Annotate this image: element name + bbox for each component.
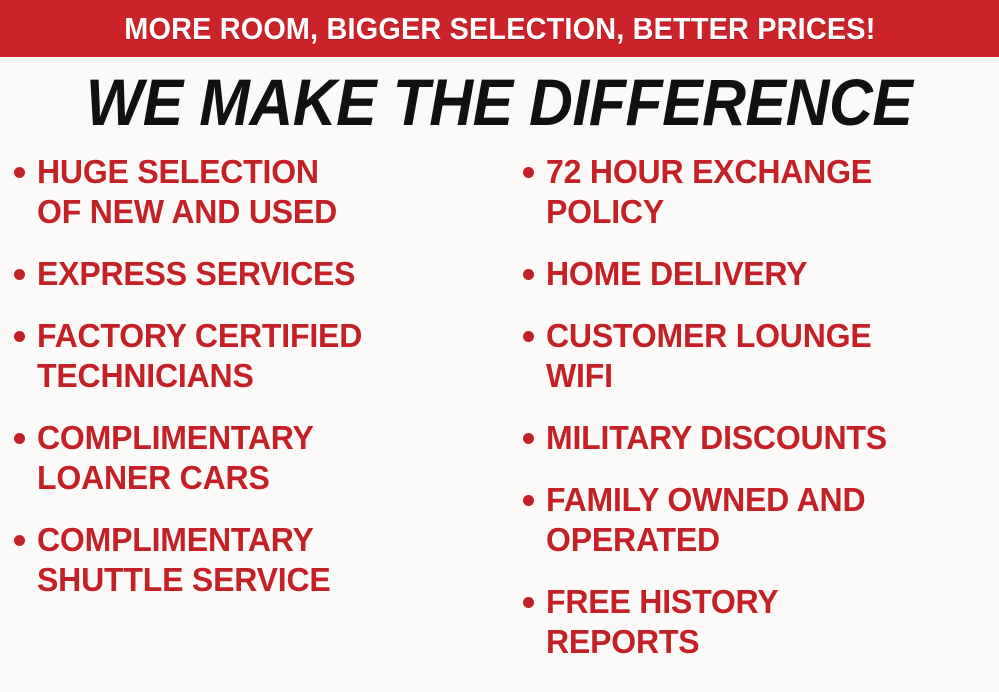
bullet-dot-icon [14, 331, 25, 342]
bullet-dot-icon [523, 597, 534, 608]
list-item: FREE HISTORY REPORTS [523, 582, 999, 662]
bullet-dot-icon [523, 433, 534, 444]
list-item: HOME DELIVERY [523, 254, 999, 294]
list-item-label: CUSTOMER LOUNGE WIFI [546, 316, 872, 396]
list-item-label: 72 HOUR EXCHANGE POLICY [546, 152, 872, 232]
list-item: CUSTOMER LOUNGE WIFI [523, 316, 999, 396]
bullet-dot-icon [14, 167, 25, 178]
list-item: MILITARY DISCOUNTS [523, 418, 999, 458]
benefits-column-left: HUGE SELECTION OF NEW AND USED EXPRESS S… [0, 152, 505, 622]
list-item-label: HOME DELIVERY [546, 254, 807, 294]
bullet-dot-icon [14, 535, 25, 546]
list-item: COMPLIMENTARY SHUTTLE SERVICE [14, 520, 505, 600]
bullet-dot-icon [523, 167, 534, 178]
main-headline-container: WE MAKE THE DIFFERENCE [0, 62, 999, 142]
list-item-label: FAMILY OWNED AND OPERATED [546, 480, 865, 560]
bullet-dot-icon [14, 269, 25, 280]
list-item: FACTORY CERTIFIED TECHNICIANS [14, 316, 505, 396]
list-item-label: FACTORY CERTIFIED TECHNICIANS [37, 316, 362, 396]
list-item-label: COMPLIMENTARY SHUTTLE SERVICE [37, 520, 331, 600]
top-banner: MORE ROOM, BIGGER SELECTION, BETTER PRIC… [0, 0, 999, 57]
list-item: HUGE SELECTION OF NEW AND USED [14, 152, 505, 232]
list-item-label: MILITARY DISCOUNTS [546, 418, 887, 458]
banner-headline-text: MORE ROOM, BIGGER SELECTION, BETTER PRIC… [124, 13, 875, 44]
list-item: 72 HOUR EXCHANGE POLICY [523, 152, 999, 232]
list-item: COMPLIMENTARY LOANER CARS [14, 418, 505, 498]
list-item-label: COMPLIMENTARY LOANER CARS [37, 418, 314, 498]
list-item: EXPRESS SERVICES [14, 254, 505, 294]
benefits-columns: HUGE SELECTION OF NEW AND USED EXPRESS S… [0, 152, 999, 692]
list-item-label: EXPRESS SERVICES [37, 254, 355, 294]
list-item-label: FREE HISTORY REPORTS [546, 582, 778, 662]
bullet-dot-icon [523, 269, 534, 280]
benefits-column-right: 72 HOUR EXCHANGE POLICY HOME DELIVERY CU… [505, 152, 999, 684]
bullet-dot-icon [523, 495, 534, 506]
list-item: FAMILY OWNED AND OPERATED [523, 480, 999, 560]
list-item-label: HUGE SELECTION OF NEW AND USED [37, 152, 337, 232]
bullet-dot-icon [14, 433, 25, 444]
promotional-poster: MORE ROOM, BIGGER SELECTION, BETTER PRIC… [0, 0, 999, 692]
main-headline: WE MAKE THE DIFFERENCE [86, 69, 912, 135]
bullet-dot-icon [523, 331, 534, 342]
